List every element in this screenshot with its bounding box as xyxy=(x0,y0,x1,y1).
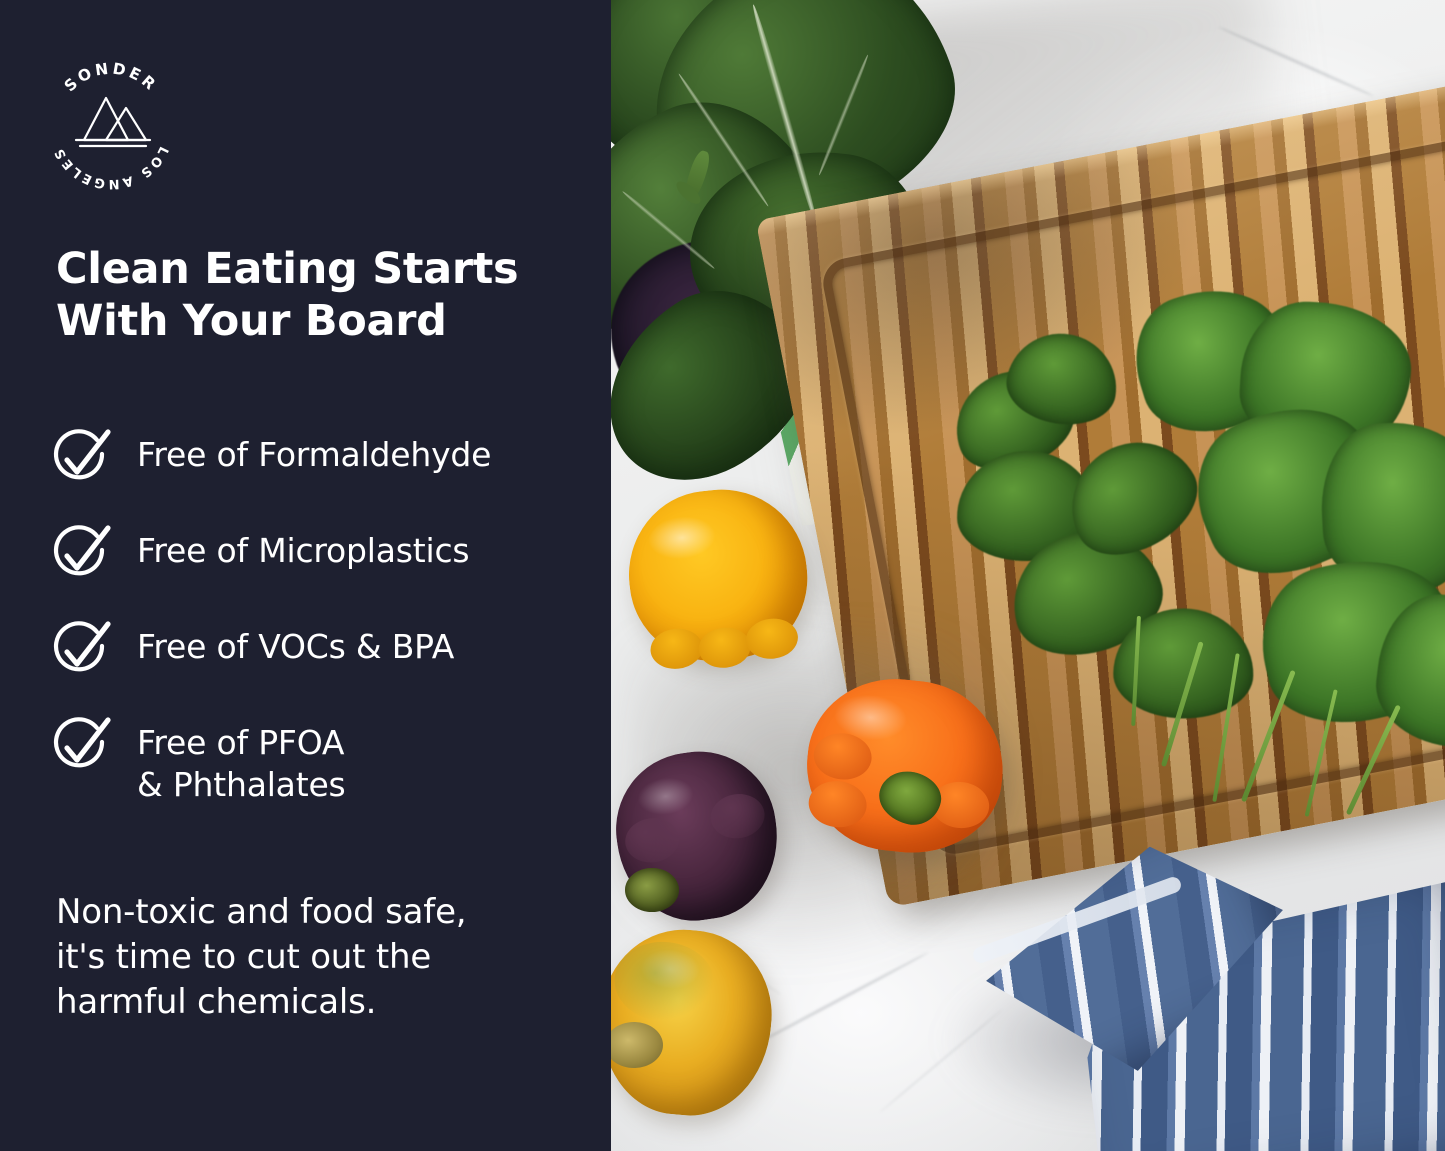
svg-text:LOS ANGELES: LOS ANGELES xyxy=(51,144,171,191)
list-item: Free of PFOA & Phthalates xyxy=(45,712,605,806)
svg-text:SONDER: SONDER xyxy=(61,60,161,96)
product-lifestyle-photo xyxy=(611,0,1445,1151)
list-item-label: Free of Microplastics xyxy=(137,520,469,572)
closing-paragraph: Non-toxic and food safe, it's time to cu… xyxy=(56,890,596,1026)
list-item-label: Free of Formaldehyde xyxy=(137,424,491,476)
list-item: Free of Formaldehyde xyxy=(45,424,605,494)
page-title: Clean Eating Starts With Your Board xyxy=(56,243,596,348)
info-panel: SONDER LOS ANGELES Clean Eating Starts W… xyxy=(0,0,611,1151)
check-circle-icon xyxy=(45,520,115,590)
check-circle-icon xyxy=(45,712,115,782)
tomato-calyx xyxy=(625,868,679,912)
sonder-los-angeles-logo: SONDER LOS ANGELES xyxy=(36,52,186,202)
promotional-banner: SONDER LOS ANGELES Clean Eating Starts W… xyxy=(0,0,1445,1151)
list-item: Free of Microplastics xyxy=(45,520,605,590)
check-circle-icon xyxy=(45,424,115,494)
mountain-icon xyxy=(76,98,150,146)
list-item-label: Free of PFOA & Phthalates xyxy=(137,712,346,806)
check-circle-icon xyxy=(45,616,115,686)
list-item-label: Free of VOCs & BPA xyxy=(137,616,454,668)
list-item: Free of VOCs & BPA xyxy=(45,616,605,686)
benefits-checklist: Free of Formaldehyde Free of Microplasti… xyxy=(45,424,605,806)
